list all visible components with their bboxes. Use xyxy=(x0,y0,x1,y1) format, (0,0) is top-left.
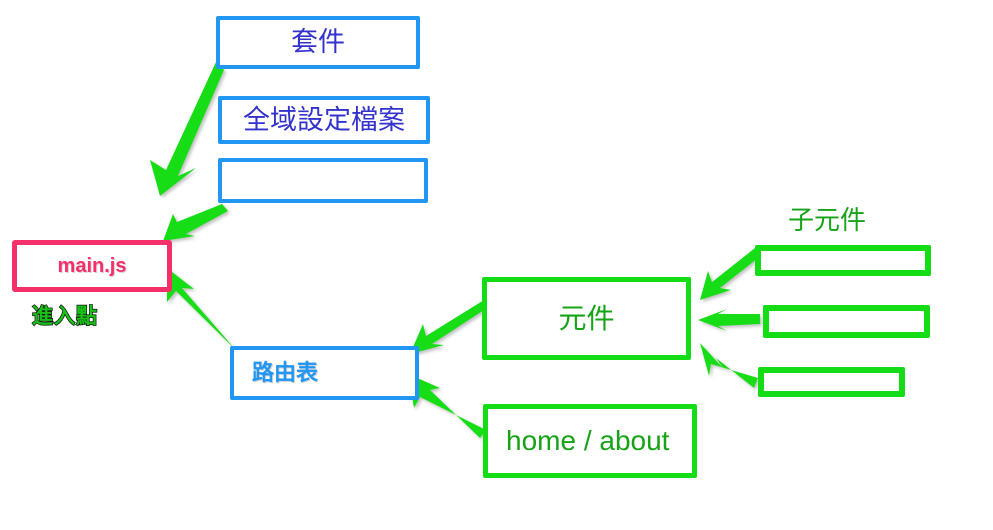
node-router-table[interactable]: 路由表 xyxy=(230,346,419,400)
node-packages[interactable]: 套件 xyxy=(216,16,420,69)
arrow-child2-to-component xyxy=(698,309,760,331)
arrow-component-to-routes xyxy=(410,300,484,354)
node-main-js[interactable]: main.js xyxy=(12,240,172,292)
label-entry-point: 進入點 xyxy=(32,300,98,330)
diagram-canvas: 套件 全域設定檔案 main.js 進入點 路由表 元件 home / abou… xyxy=(0,0,993,530)
arrow-config-to-main xyxy=(163,204,228,241)
arrow-homeabout-to-routes xyxy=(408,374,486,438)
label-child-components: 子元件 xyxy=(788,203,908,237)
arrow-child1-to-component xyxy=(700,248,758,300)
node-main-js-label: main.js xyxy=(58,256,127,276)
node-child-1[interactable] xyxy=(755,245,931,276)
node-router-table-label: 路由表 xyxy=(252,362,318,384)
node-component-label: 元件 xyxy=(558,305,614,333)
node-blue-empty[interactable] xyxy=(218,158,428,203)
label-child-components-text: 子元件 xyxy=(788,207,866,233)
arrow-packages-to-main xyxy=(150,62,224,196)
arrow-child3-to-component xyxy=(700,343,758,388)
node-child-2[interactable] xyxy=(763,305,930,338)
node-component[interactable]: 元件 xyxy=(482,277,691,360)
node-global-config-label: 全域設定檔案 xyxy=(243,107,405,134)
node-child-3[interactable] xyxy=(758,367,905,397)
node-home-about[interactable]: home / about xyxy=(483,404,697,478)
node-packages-label: 套件 xyxy=(291,29,345,56)
node-home-about-label: home / about xyxy=(506,427,669,455)
node-global-config[interactable]: 全域設定檔案 xyxy=(218,96,430,144)
